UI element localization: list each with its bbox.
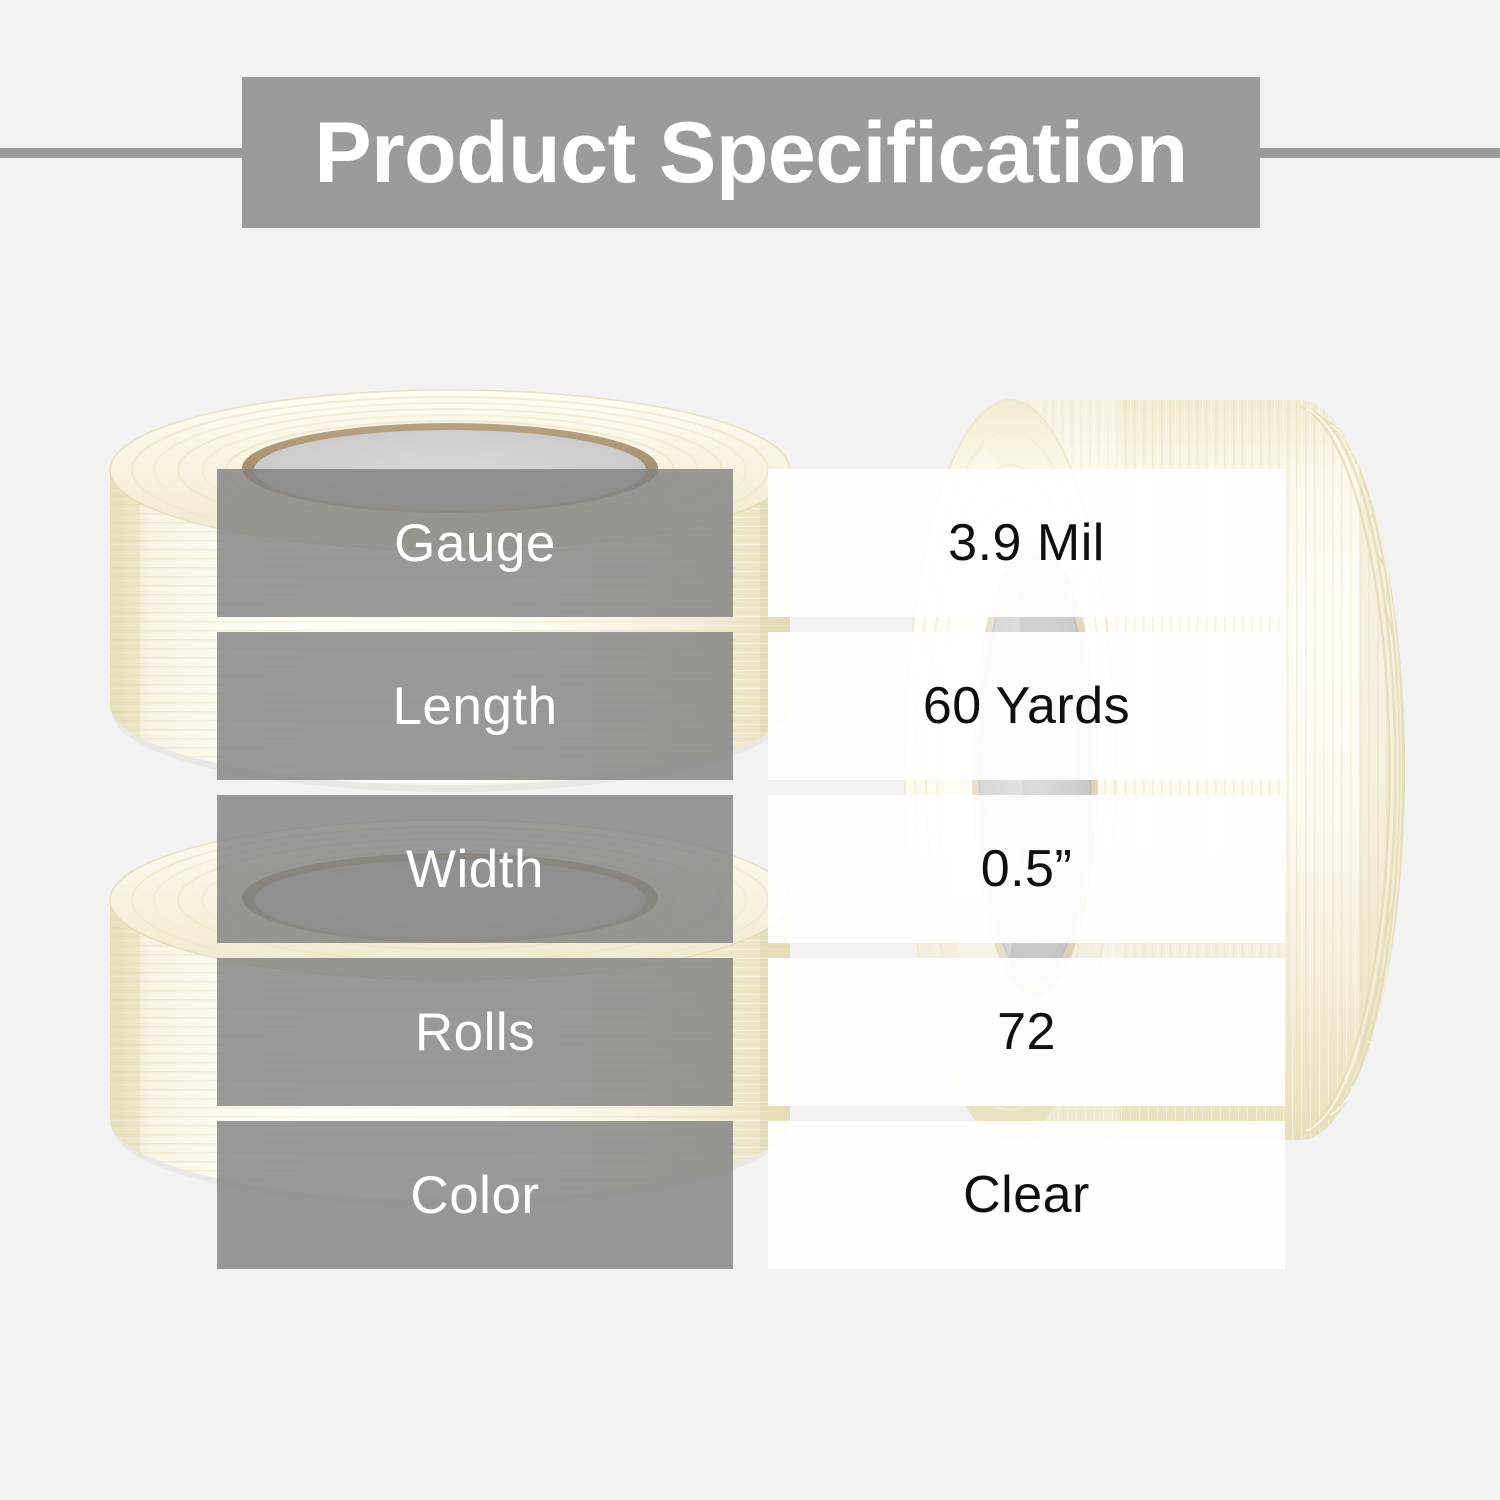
spec-value-text: 60 Yards xyxy=(923,680,1130,732)
spec-value-rolls: 72 xyxy=(768,958,1285,1106)
spec-label-text: Color xyxy=(410,1169,539,1222)
page-title-banner: Product Specification xyxy=(242,77,1260,228)
specification-table: Gauge 3.9 Mil Length 60 Yards Width 0.5” xyxy=(217,469,1285,1245)
spec-value-color: Clear xyxy=(768,1121,1285,1269)
spec-value-length: 60 Yards xyxy=(768,632,1285,780)
page-title: Product Specification xyxy=(314,110,1188,196)
spec-value-text: Clear xyxy=(963,1169,1090,1221)
spec-label-text: Width xyxy=(406,843,544,896)
spec-label-length: Length xyxy=(217,632,733,780)
table-row: Rolls 72 xyxy=(217,958,1285,1106)
spec-label-text: Length xyxy=(392,680,557,733)
table-row: Color Clear xyxy=(217,1121,1285,1269)
table-row: Gauge 3.9 Mil xyxy=(217,469,1285,617)
spec-label-text: Gauge xyxy=(394,517,556,570)
product-specification-canvas: Product Specification Gauge 3.9 Mil Leng… xyxy=(0,0,1500,1500)
spec-label-rolls: Rolls xyxy=(217,958,733,1106)
spec-label-width: Width xyxy=(217,795,733,943)
spec-value-text: 3.9 Mil xyxy=(948,517,1105,569)
spec-label-text: Rolls xyxy=(415,1006,535,1059)
spec-label-color: Color xyxy=(217,1121,733,1269)
spec-value-gauge: 3.9 Mil xyxy=(768,469,1285,617)
table-row: Length 60 Yards xyxy=(217,632,1285,780)
spec-label-gauge: Gauge xyxy=(217,469,733,617)
spec-value-text: 0.5” xyxy=(981,843,1073,895)
table-row: Width 0.5” xyxy=(217,795,1285,943)
spec-value-text: 72 xyxy=(997,1006,1056,1058)
spec-value-width: 0.5” xyxy=(768,795,1285,943)
